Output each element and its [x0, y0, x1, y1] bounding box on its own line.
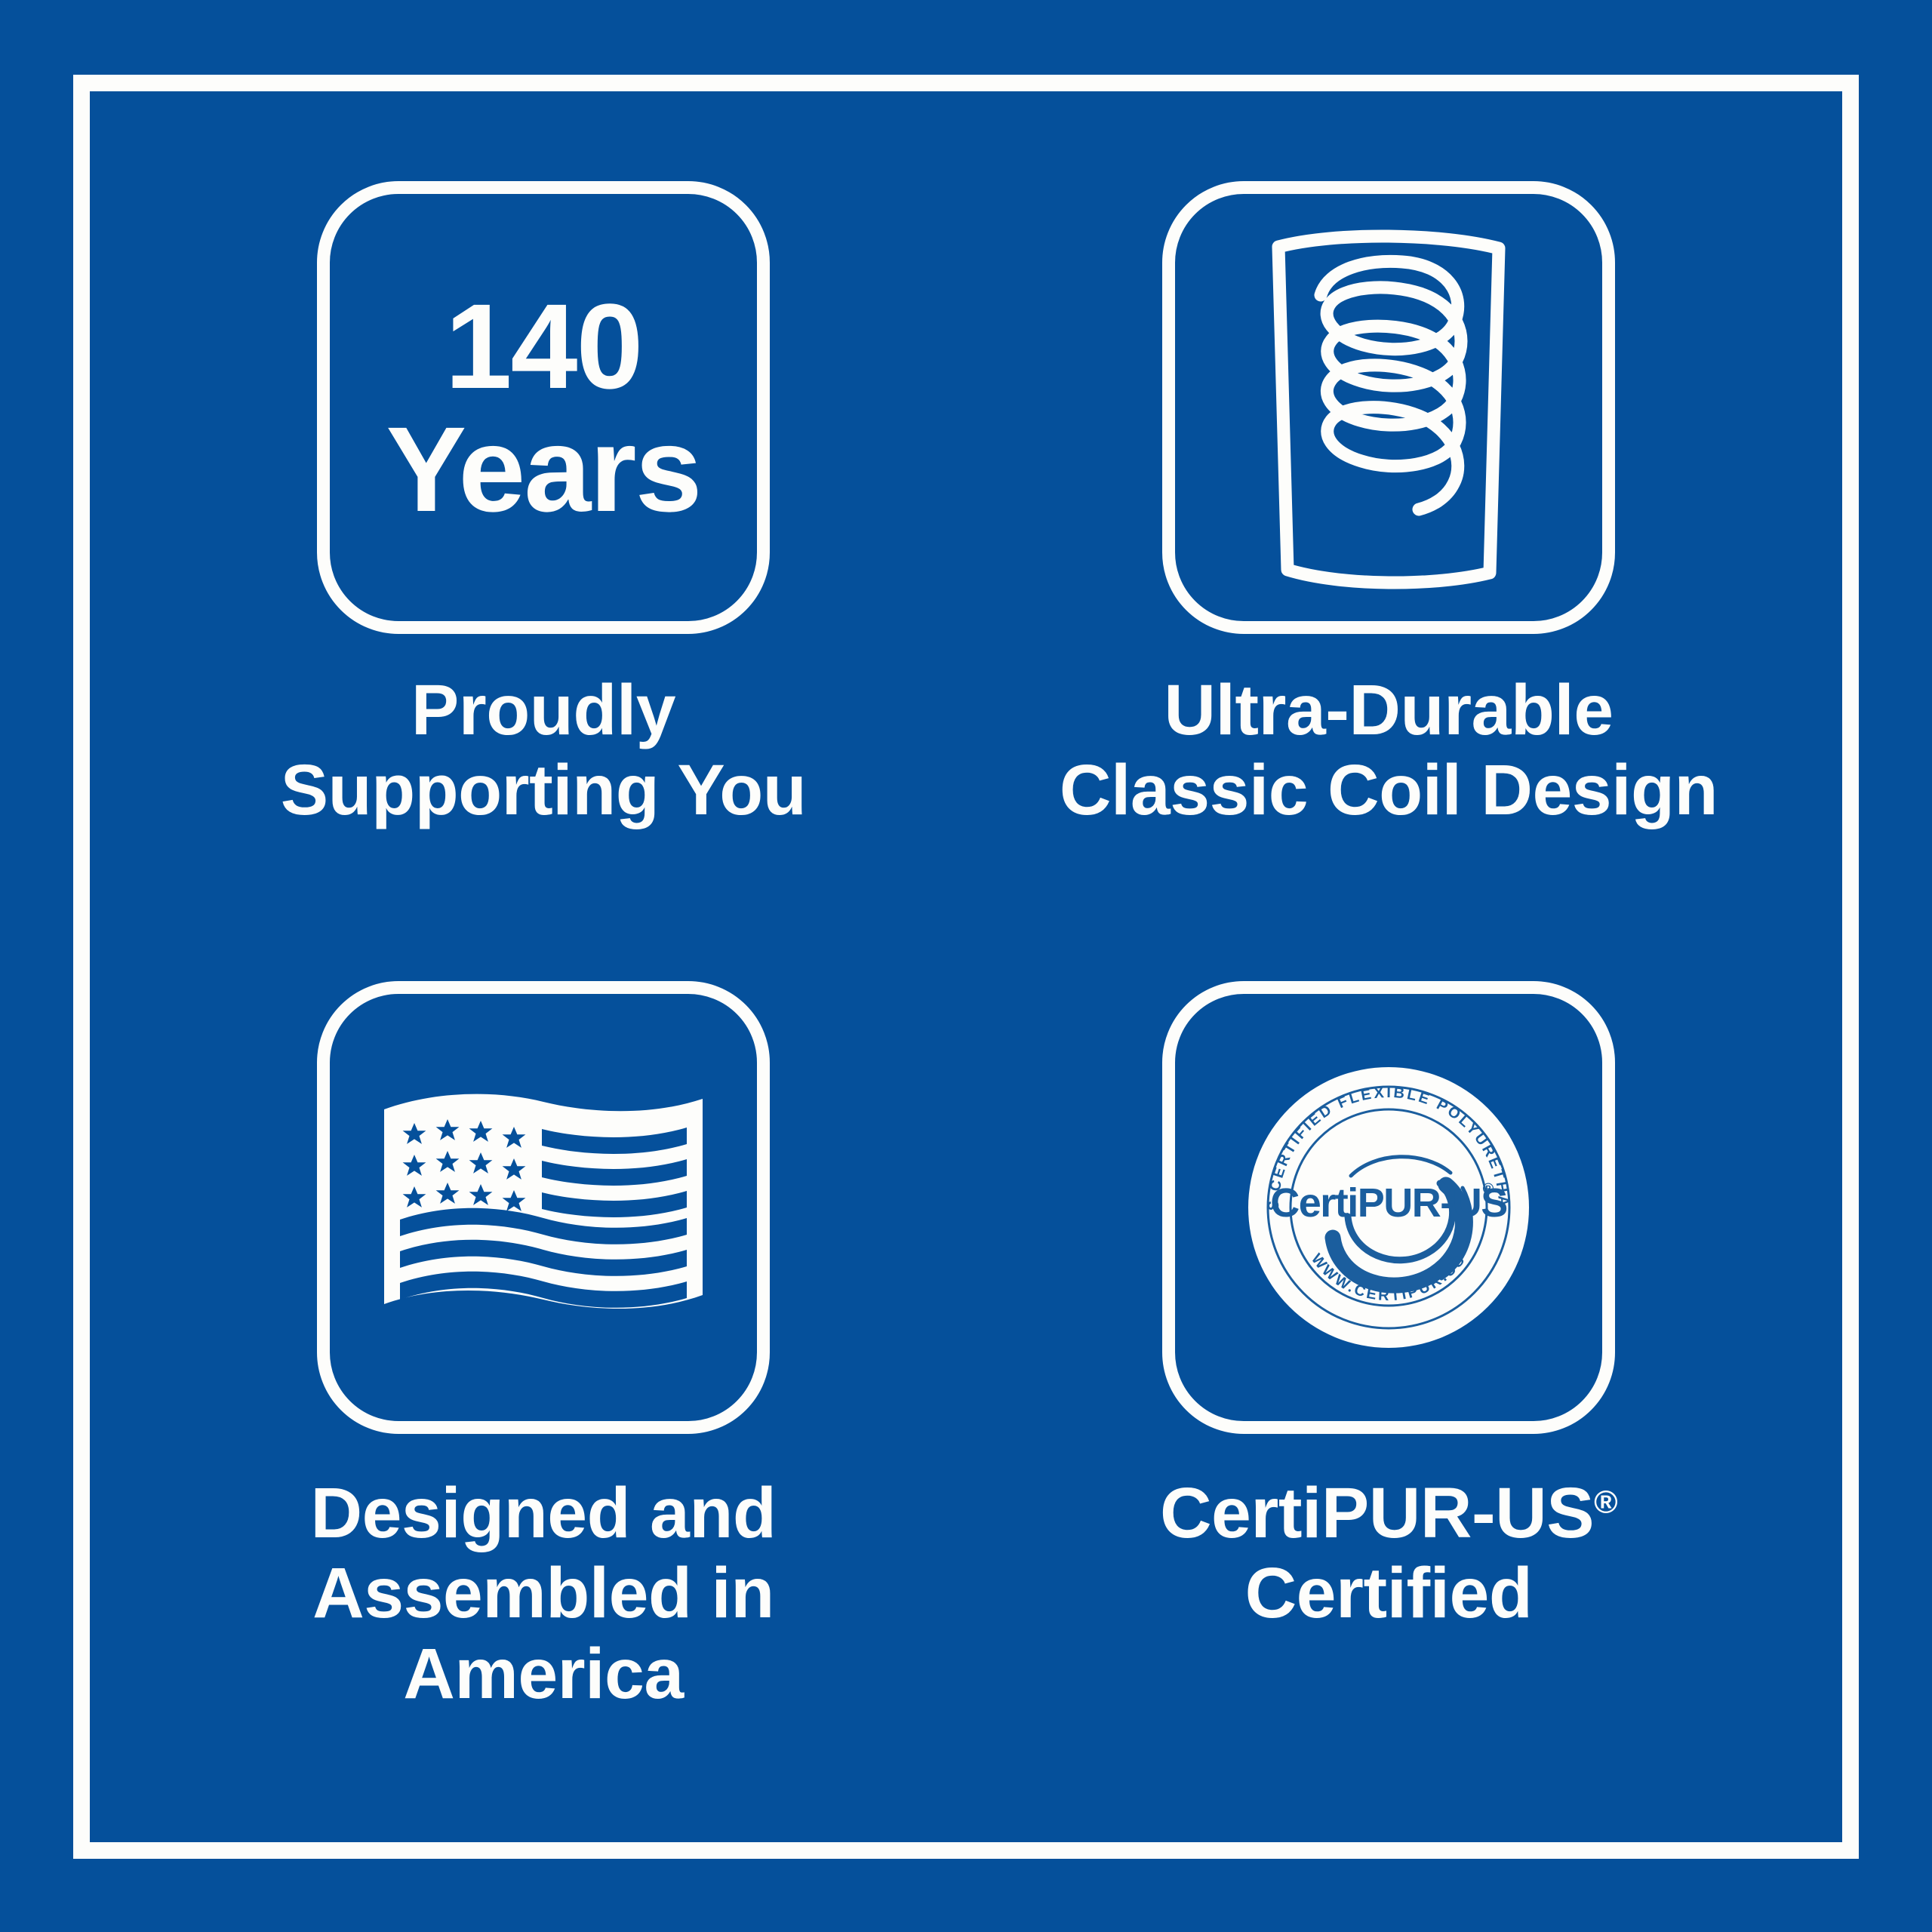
caption-line-2: Supporting You — [281, 750, 807, 830]
american-flag-icon — [381, 1093, 706, 1323]
seal-center-trademark: ® — [1483, 1181, 1494, 1198]
seal-center-wordmark: CertiPUR-US — [1270, 1180, 1507, 1226]
caption-line-1: CertiPUR-US® — [1160, 1473, 1617, 1553]
feature-cell-certipur: CertiPUR-US ® CONTAINS CERTIFIED FLEXIBL… — [966, 966, 1811, 1811]
registered-trademark-icon: ® — [1594, 1484, 1617, 1520]
certipur-us-seal-icon: CertiPUR-US ® CONTAINS CERTIFIED FLEXIBL… — [1248, 1067, 1529, 1348]
caption-line-2: Assembled in — [311, 1553, 777, 1633]
years-badge-text: 140 Years — [386, 285, 700, 531]
feature-badge-grid: 140 Years Proudly Supporting You Ultra-D… — [121, 121, 1811, 1811]
caption-line-1: Designed and — [311, 1473, 777, 1553]
feature-caption-certipur: CertiPUR-US® Certified — [1160, 1473, 1617, 1634]
feature-caption-coil-design: Ultra-Durable Classic Coil Design — [1060, 670, 1718, 831]
caption-line-1: Proudly — [281, 670, 807, 750]
feature-caption-anniversary: Proudly Supporting You — [281, 670, 807, 831]
years-number: 140 — [386, 285, 700, 408]
certipur-wordmark: CertiPUR-US — [1160, 1473, 1594, 1553]
feature-caption-made-in-america: Designed and Assembled in America — [311, 1473, 777, 1714]
caption-line-2: Certified — [1160, 1553, 1617, 1633]
mattress-coil-icon — [1230, 215, 1547, 600]
feature-cell-anniversary: 140 Years Proudly Supporting You — [121, 121, 966, 966]
caption-line-2: Classic Coil Design — [1060, 750, 1718, 830]
american-flag-icon-box — [317, 981, 770, 1434]
feature-cell-coil-design: Ultra-Durable Classic Coil Design — [966, 121, 1811, 966]
140-years-badge-icon: 140 Years — [317, 181, 770, 634]
feature-cell-made-in-america: Designed and Assembled in America — [121, 966, 966, 1811]
caption-line-1: Ultra-Durable — [1060, 670, 1718, 750]
caption-line-3: America — [311, 1634, 777, 1714]
certipur-us-seal-icon-box: CertiPUR-US ® CONTAINS CERTIFIED FLEXIBL… — [1162, 981, 1615, 1434]
mattress-coil-icon-box — [1162, 181, 1615, 634]
years-word: Years — [386, 408, 700, 531]
